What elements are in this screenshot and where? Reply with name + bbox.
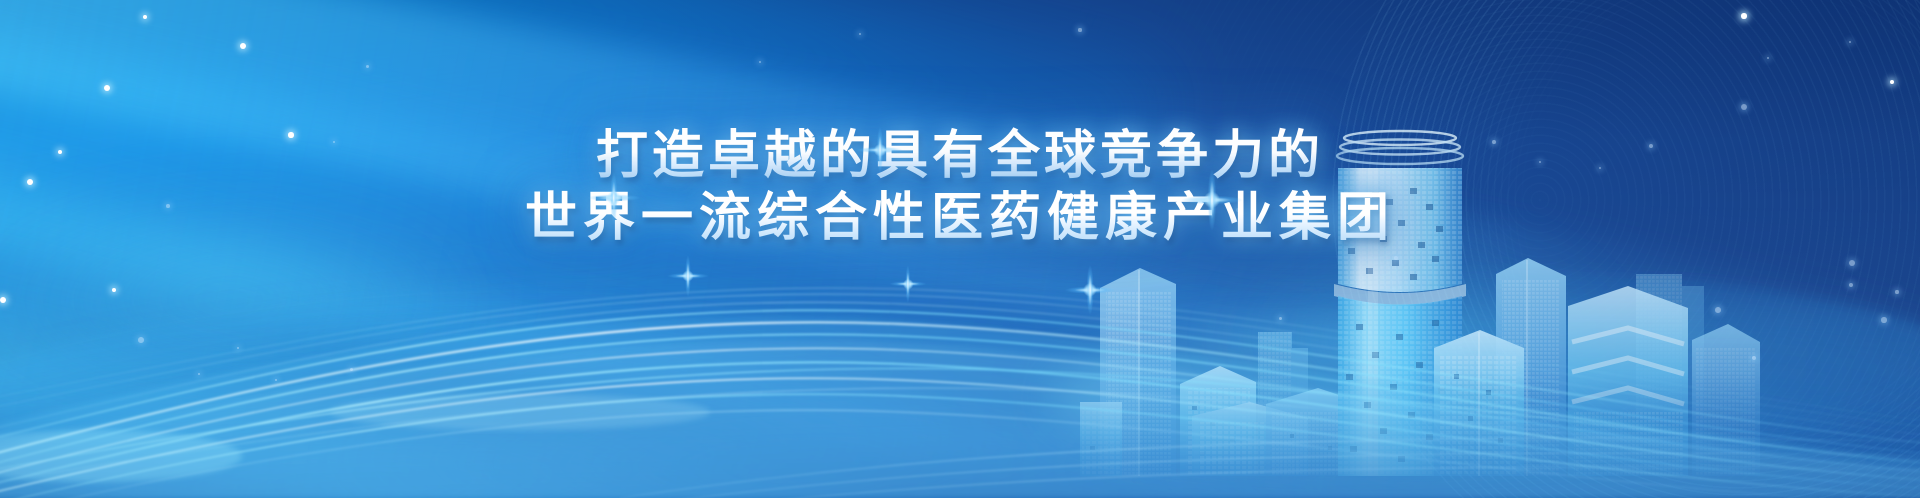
- flowing-light-streams: [0, 198, 1920, 498]
- hero-banner: 打造卓越的具有全球竞争力的 世界一流综合性医药健康产业集团: [0, 0, 1920, 498]
